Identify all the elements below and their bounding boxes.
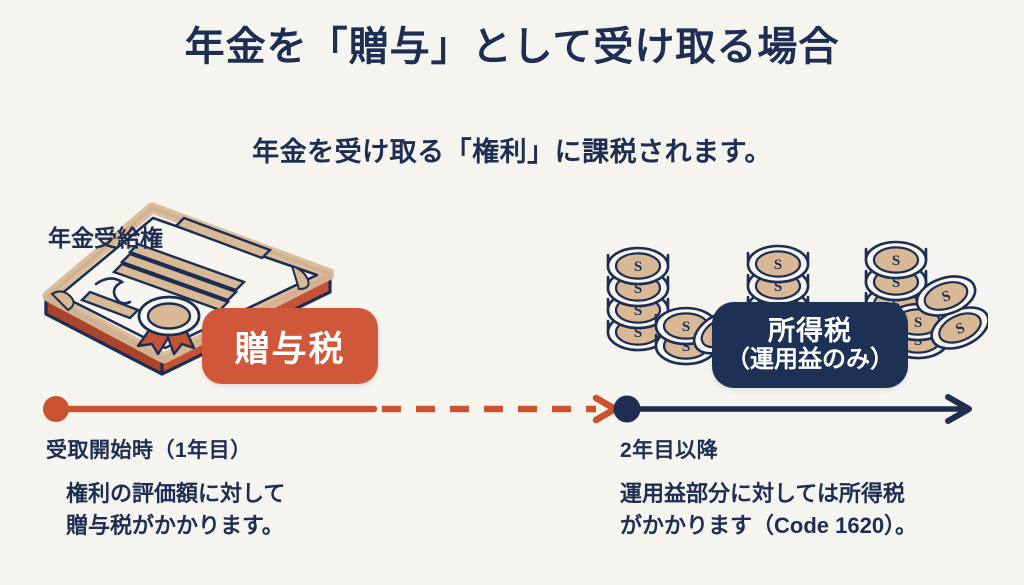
income-tax-badge-label: 所得税 xyxy=(768,316,852,346)
page-subtitle: 年金を受け取る「権利」に課税されます。 xyxy=(0,130,1024,169)
caption-line: 運用益部分に対しては所得税 xyxy=(620,478,1020,510)
gift-tax-badge: 贈与税 xyxy=(202,308,378,384)
caption-line: 権利の評価額に対して xyxy=(66,478,466,510)
page-title: 年金を「贈与」として受け取る場合 xyxy=(0,14,1024,72)
infographic-canvas: 年金を「贈与」として受け取る場合 年金を受け取る「権利」に課税されます。 年金受… xyxy=(0,0,1024,585)
orange-dot-marker xyxy=(43,396,69,422)
caption-line: がかかります（Code 1620）。 xyxy=(620,510,1020,542)
caption-year-two-onward: 2年目以降 運用益部分に対しては所得税 がかかります（Code 1620）。 xyxy=(620,434,1020,542)
gift-tax-badge-label: 贈与税 xyxy=(234,321,345,372)
caption-year-one-heading: 受取開始時（1年目） xyxy=(46,434,466,464)
caption-line: 贈与税がかかります。 xyxy=(66,510,466,542)
income-tax-badge: 所得税 （運用益のみ） xyxy=(712,302,908,388)
arrow-head-icon xyxy=(596,398,615,420)
caption-year-two-onward-body: 運用益部分に対しては所得税 がかかります（Code 1620）。 xyxy=(620,478,1020,542)
navy-dot-marker xyxy=(614,396,641,423)
caption-year-one-body: 権利の評価額に対して 贈与税がかかります。 xyxy=(66,478,466,542)
caption-year-two-onward-heading: 2年目以降 xyxy=(620,434,1020,464)
pension-right-label: 年金受給権 xyxy=(48,219,163,253)
income-tax-badge-sublabel: （運用益のみ） xyxy=(726,347,894,374)
caption-year-one: 受取開始時（1年目） 権利の評価額に対して 贈与税がかかります。 xyxy=(46,434,466,542)
timeline xyxy=(0,392,1024,426)
